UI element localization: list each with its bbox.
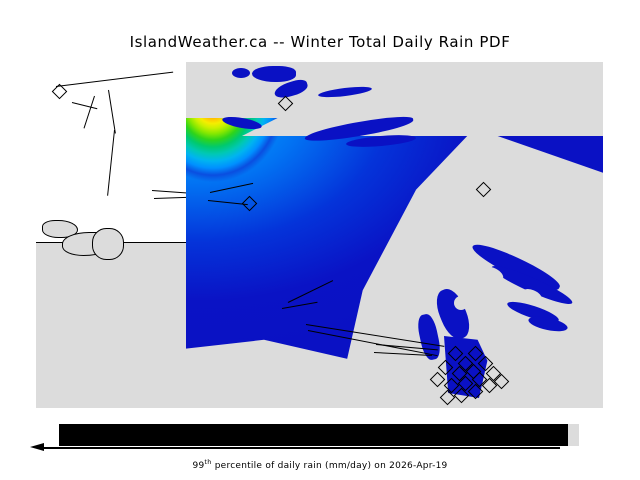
colorbar-arrow-icon (30, 443, 44, 451)
mainland-landmass (36, 242, 188, 408)
colorbar-axis-line (44, 447, 560, 449)
colorbar-overflow-swatch (568, 424, 579, 446)
island-se-3 (454, 296, 468, 310)
map-plot-area (36, 62, 603, 408)
caption-rest: percentile of daily rain (mm/day) on 202… (212, 461, 448, 471)
out-of-domain-region-upper (36, 62, 204, 70)
water-channel-north-1 (252, 66, 296, 82)
island-north-small-1 (196, 64, 216, 74)
caption-percentile-number: 99 (192, 461, 204, 471)
colorbar (59, 424, 579, 446)
water-channel-north-2 (232, 68, 250, 78)
caption-percentile-suffix: th (204, 458, 211, 466)
colorbar-gradient (59, 424, 568, 446)
figure-caption: 99th percentile of daily rain (mm/day) o… (0, 458, 640, 471)
page-title: IslandWeather.ca -- Winter Total Daily R… (0, 33, 640, 51)
gulf-island-nw-3 (92, 228, 124, 260)
